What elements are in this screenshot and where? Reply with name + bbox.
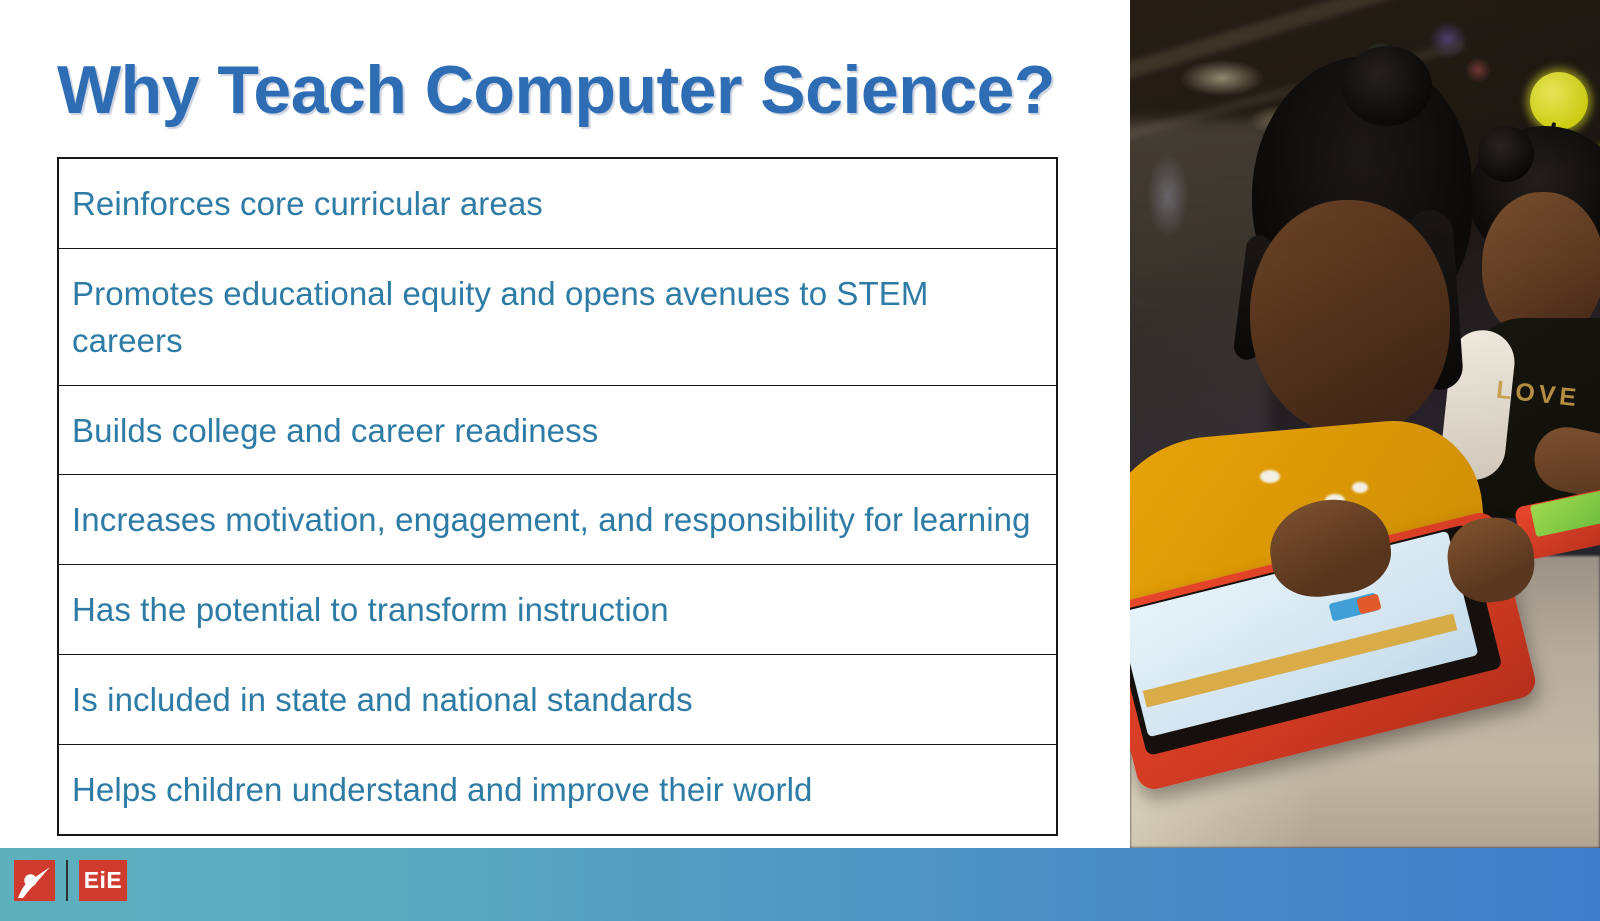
benefit-text: Reinforces core curricular areas — [59, 159, 555, 248]
table-row: Is included in state and national standa… — [59, 655, 1056, 745]
main-child-head — [1250, 200, 1450, 435]
table-row: Increases motivation, engagement, and re… — [59, 475, 1056, 565]
benefits-table: Reinforces core curricular areas Promote… — [57, 157, 1058, 836]
benefit-text: Promotes educational equity and opens av… — [59, 249, 1056, 385]
shirt-dot — [1260, 470, 1280, 483]
table-row: Reinforces core curricular areas — [59, 159, 1056, 249]
benefit-text: Helps children understand and improve th… — [59, 745, 824, 834]
benefit-text: Increases motivation, engagement, and re… — [59, 475, 1043, 564]
benefit-text: Builds college and career readiness — [59, 386, 610, 475]
table-row: Builds college and career readiness — [59, 386, 1056, 476]
classroom-photo: LOVE — [1130, 0, 1600, 848]
table-row: Promotes educational equity and opens av… — [59, 249, 1056, 386]
slide: Why Teach Computer Science? Reinforces c… — [0, 0, 1600, 921]
benefit-text: Is included in state and national standa… — [59, 655, 705, 744]
comet-mark-icon — [14, 860, 55, 901]
benefit-text: Has the potential to transform instructi… — [59, 565, 681, 654]
table-row: Helps children understand and improve th… — [59, 745, 1056, 834]
page-title: Why Teach Computer Science? — [57, 56, 1077, 124]
brand-label: EiE — [79, 860, 127, 901]
content-area: Why Teach Computer Science? Reinforces c… — [0, 0, 1130, 848]
table-row: Has the potential to transform instructi… — [59, 565, 1056, 655]
shirt-dot — [1352, 482, 1368, 493]
brand-logo: EiE — [14, 858, 127, 902]
logo-divider — [66, 860, 68, 901]
second-child-hair-puff — [1478, 126, 1534, 182]
footer-bar: EiE — [0, 848, 1600, 921]
pompom-headband-icon — [1530, 72, 1588, 130]
main-child-hair-bun — [1342, 46, 1432, 126]
